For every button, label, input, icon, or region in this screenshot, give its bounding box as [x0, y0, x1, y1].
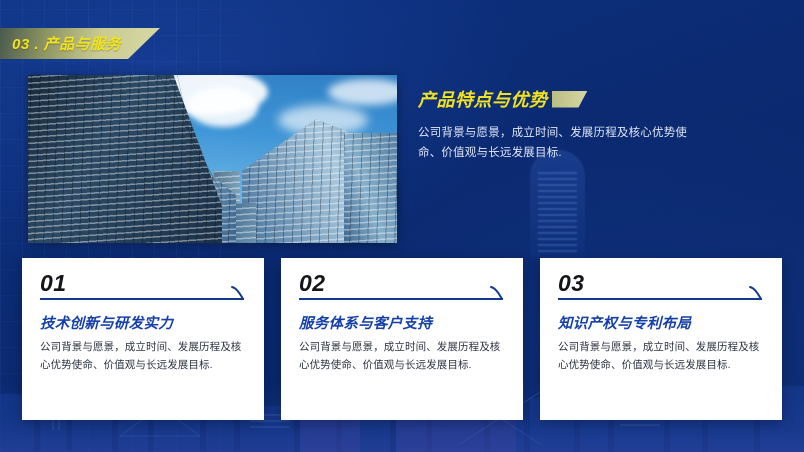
card-number: 03 — [558, 270, 585, 296]
feature-card-03[interactable]: 03 知识产权与专利布局 公司背景与愿景，成立时间、发展历程及核心优势使命、价值… — [540, 258, 782, 420]
card-heading: 服务体系与客户支持 — [299, 312, 507, 333]
card-body-text: 公司背景与愿景，成立时间、发展历程及核心优势使命、价值观与长远发展目标. — [40, 338, 248, 374]
card-rule — [558, 298, 762, 300]
intro-title-row: 产品特点与优势 — [418, 86, 708, 112]
photo-cables — [120, 75, 260, 193]
slide-root: 03 . 产品与服务 产品特点与优势 — [0, 0, 804, 452]
hero-photo — [28, 75, 397, 243]
background-building-silhouette — [530, 150, 585, 260]
card-number: 02 — [299, 270, 326, 296]
hook-icon — [230, 285, 246, 301]
hook-icon — [489, 285, 505, 301]
card-body-text: 公司背景与愿景，成立时间、发展历程及核心优势使命、价值观与长远发展目标. — [299, 338, 507, 374]
card-number-row: 02 — [299, 272, 507, 302]
intro-body-text: 公司背景与愿景，成立时间、发展历程及核心优势使命、价值观与长远发展目标. — [418, 123, 708, 163]
intro-title-accent-shape — [552, 91, 588, 108]
feature-card-02[interactable]: 02 服务体系与客户支持 公司背景与愿景，成立时间、发展历程及核心优势使命、价值… — [281, 258, 523, 420]
hook-icon — [748, 285, 764, 301]
photo-skyscraper — [344, 133, 397, 243]
section-banner-label: 03 . 产品与服务 — [0, 33, 121, 54]
card-rule — [40, 298, 244, 300]
card-heading: 知识产权与专利布局 — [558, 312, 766, 333]
feature-card-01[interactable]: 01 技术创新与研发实力 公司背景与愿景，成立时间、发展历程及核心优势使命、价值… — [22, 258, 264, 420]
card-number-row: 01 — [40, 272, 248, 302]
intro-block: 产品特点与优势 公司背景与愿景，成立时间、发展历程及核心优势使命、价值观与长远发… — [418, 86, 708, 163]
card-rule — [299, 298, 503, 300]
card-heading: 技术创新与研发实力 — [40, 312, 248, 333]
card-number: 01 — [40, 270, 67, 296]
card-number-row: 03 — [558, 272, 766, 302]
intro-title: 产品特点与优势 — [418, 86, 548, 112]
card-body-text: 公司背景与愿景，成立时间、发展历程及核心优势使命、价值观与长远发展目标. — [558, 338, 766, 374]
